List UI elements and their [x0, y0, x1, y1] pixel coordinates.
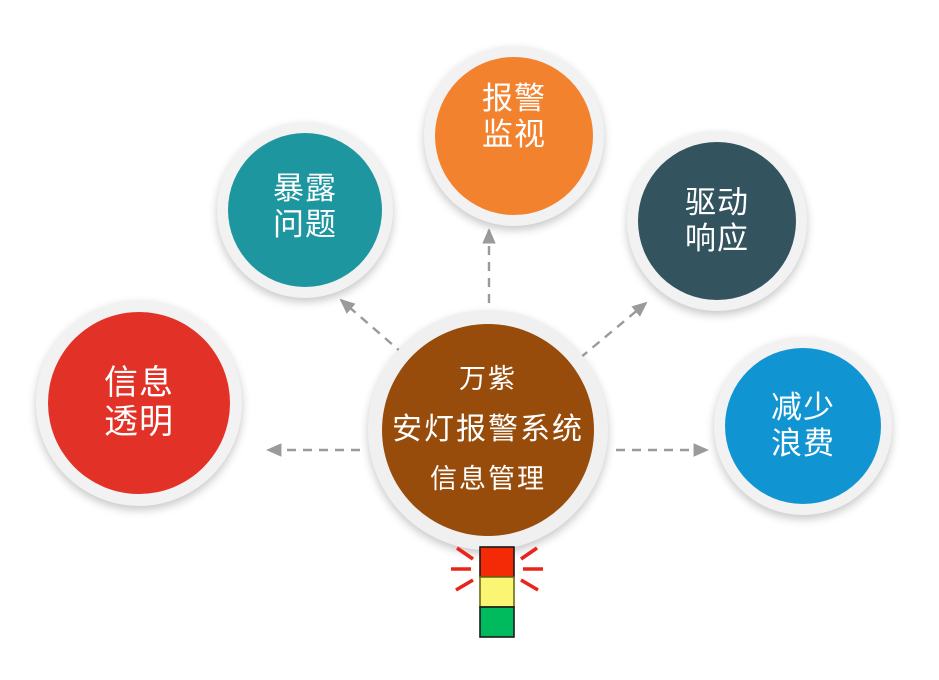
node-alarm-monitor-disc: 报警 监视: [435, 57, 593, 215]
node-reduce-waste-label: 减少 浪费: [771, 390, 835, 462]
node-info-transparent-line1: 信息: [104, 364, 174, 403]
node-drive-response-label: 驱动 响应: [685, 185, 749, 257]
node-alarm-monitor-line1: 报警: [482, 81, 546, 117]
andon-light-icon: [447, 541, 547, 646]
hub-line-1: 万紫: [459, 364, 517, 395]
node-drive-response-disc: 驱动 响应: [638, 142, 796, 300]
node-expose-problem-disc: 暴露 问题: [228, 133, 382, 287]
hub-disc: 万紫 安灯报警系统 信息管理: [382, 324, 594, 536]
node-info-transparent-disc: 信息 透明: [48, 312, 230, 494]
node-expose-problem-label: 暴露 问题: [273, 171, 337, 243]
node-reduce-waste-disc: 减少 浪费: [725, 348, 881, 504]
node-expose-problem[interactable]: 暴露 问题: [217, 122, 393, 298]
andon-lamp-stack: [480, 547, 514, 637]
node-drive-response[interactable]: 驱动 响应: [627, 131, 807, 311]
hub-node[interactable]: 万紫 安灯报警系统 信息管理: [368, 310, 608, 550]
node-alarm-monitor[interactable]: 报警 监视: [424, 46, 604, 226]
hub-line-2: 安灯报警系统: [392, 413, 584, 448]
node-drive-response-line1: 驱动: [685, 185, 749, 221]
node-info-transparent[interactable]: 信息 透明: [36, 300, 242, 506]
node-reduce-waste[interactable]: 减少 浪费: [714, 337, 892, 515]
node-info-transparent-line2: 透明: [104, 403, 174, 442]
hub-line-3: 信息管理: [430, 464, 546, 495]
node-reduce-waste-line1: 减少: [771, 390, 835, 426]
node-expose-problem-line1: 暴露: [273, 171, 337, 207]
node-expose-problem-line2: 问题: [273, 207, 337, 243]
node-alarm-monitor-label: 报警 监视: [482, 81, 546, 153]
diagram-canvas: 报警 监视 暴露 问题 驱动 响应 信息 透明: [0, 0, 939, 680]
node-drive-response-line2: 响应: [685, 221, 749, 257]
node-reduce-waste-line2: 浪费: [771, 426, 835, 462]
node-info-transparent-label: 信息 透明: [104, 364, 174, 443]
node-alarm-monitor-line2: 监视: [482, 117, 546, 153]
